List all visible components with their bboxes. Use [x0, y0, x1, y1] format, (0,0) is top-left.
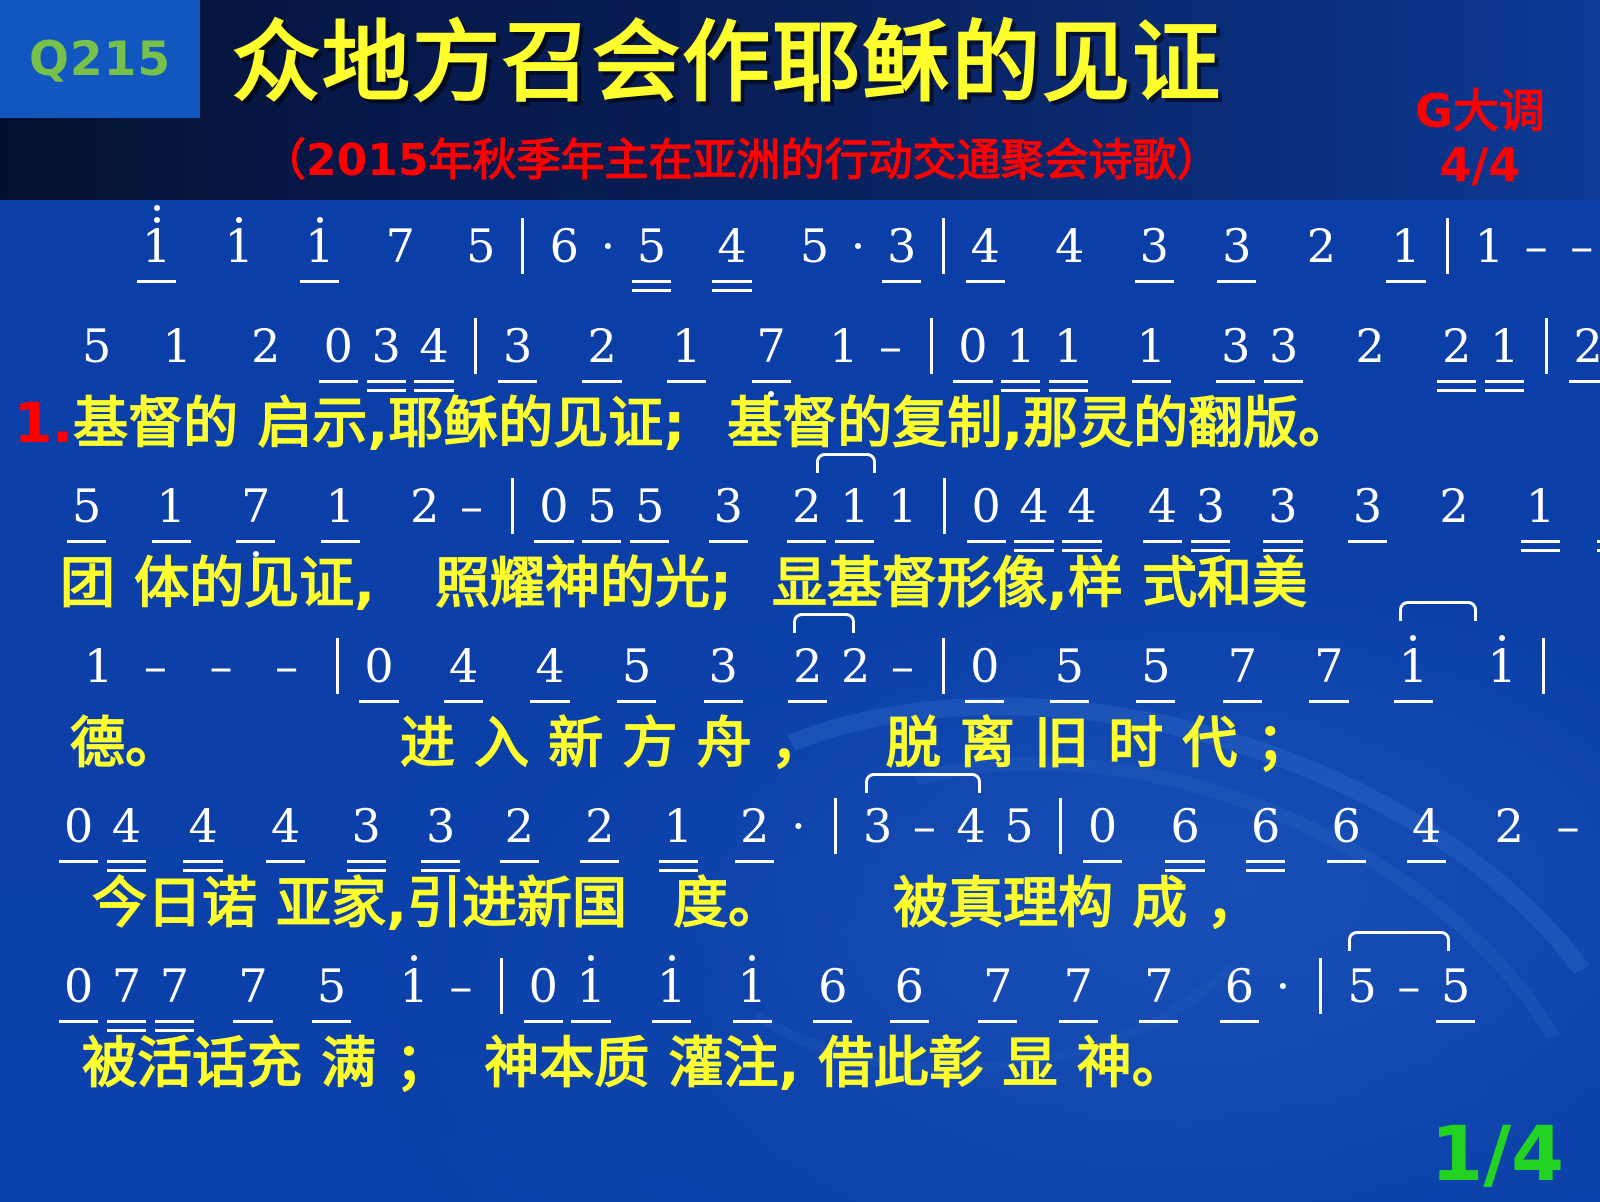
note: 4 [1146, 479, 1179, 533]
song-code-badge: Q215 [0, 0, 200, 118]
duration-dash: – [1521, 219, 1552, 273]
barline [834, 798, 837, 854]
note: 4 [954, 799, 987, 853]
note: 1 [662, 799, 695, 853]
note: 4 [1410, 799, 1443, 853]
key-signature-label: G大调 [1370, 86, 1590, 136]
note: 1 [1004, 319, 1037, 373]
note: 2 [1572, 319, 1600, 373]
note-rest: 0 [62, 959, 95, 1013]
note: 3 [861, 799, 894, 853]
note: 7 [1062, 959, 1095, 1013]
note: 1 [838, 479, 871, 533]
note: 7 [158, 959, 191, 1013]
barline [930, 318, 933, 374]
duration-dot: · [596, 219, 621, 273]
tie-slur [1399, 601, 1477, 621]
note-rest: 0 [362, 639, 395, 693]
staff-line-2: 5 1 2 0 3 4 3 2 1 7 1 – 0 1 1 1 3 3 2 2 … [80, 318, 1600, 396]
note: 5 [1346, 959, 1379, 1013]
lyric-text: 今日诺 亚家,引进新国 [92, 871, 627, 935]
note: 7 [981, 959, 1014, 1013]
note: 1 [1524, 479, 1557, 533]
duration-dash: – [1540, 799, 1595, 853]
lyric-text: 被真理构 成 ， [893, 871, 1261, 935]
duration-dash: – [130, 639, 181, 693]
barline [942, 218, 945, 274]
duration-dash: – [261, 639, 312, 693]
lyric-text: 团 体的见证, [60, 551, 375, 615]
note: 1 [161, 319, 194, 373]
note: 2 [1437, 479, 1470, 533]
tie-slur [793, 613, 855, 633]
note: 1 [1389, 219, 1422, 273]
note: 3 [1220, 219, 1253, 273]
note: 5 [798, 219, 831, 273]
note: 6 [893, 959, 926, 1013]
barline [942, 638, 945, 694]
note: 3 [350, 799, 383, 853]
note: 4 [447, 639, 480, 693]
barline [500, 958, 503, 1014]
note: 3 [370, 319, 403, 373]
staff-line-3: 5 1 7 1 2 – 0 5 5 3 2 1 1 0 4 4 4 3 3 3 [70, 478, 1600, 556]
note: 4 [269, 799, 302, 853]
barline [1319, 958, 1322, 1014]
note: 5 [620, 639, 653, 693]
note: 5 [633, 479, 666, 533]
note: 1 [670, 319, 703, 373]
note: 4 [969, 219, 1002, 273]
note: 1 [574, 959, 607, 1013]
verse-number: 1. [14, 391, 73, 455]
duration-dash: – [196, 639, 247, 693]
note: 5 [635, 219, 668, 273]
note: 1 [1397, 639, 1430, 693]
page-title: 众地方召会作耶稣的见证 [232, 14, 1222, 112]
song-code-label: Q215 [29, 32, 171, 87]
note: 2 [503, 799, 536, 853]
note: 1 [1485, 639, 1518, 693]
note: 5 [1002, 799, 1035, 853]
note: 2 [249, 319, 282, 373]
note: 3 [885, 219, 918, 273]
note: 6 [548, 219, 581, 273]
duration-dash: – [1393, 959, 1424, 1013]
staff-line-4: 1 – – – 0 4 4 5 3 2 2 – 0 5 5 7 7 1 [82, 638, 1554, 716]
barline [1545, 318, 1548, 374]
duration-dot: · [786, 799, 811, 853]
note-rest: 0 [537, 479, 570, 533]
note: 1 [1473, 219, 1506, 273]
note-rest: 0 [527, 959, 560, 1013]
note: 7 [110, 959, 143, 1013]
note-rest: 0 [970, 479, 1003, 533]
note: 6 [1249, 799, 1282, 853]
staff-line-6: 0 7 7 7 5 1 – 0 1 1 1 6 6 7 7 7 6 · 5 – [62, 958, 1472, 1036]
note: 1 [655, 959, 688, 1013]
note: 5 [80, 319, 113, 373]
lyric-line-5: 被活话充 满 ；神本质 灌注, 借此彰 显 神。 [82, 1033, 1187, 1093]
barline [521, 218, 524, 274]
note: 2 [790, 479, 823, 533]
note: 5 [1139, 639, 1172, 693]
note: 3 [712, 479, 745, 533]
note: 6 [1168, 799, 1201, 853]
note: 6 [1223, 959, 1256, 1013]
note-rest: 0 [322, 319, 355, 373]
note: 2 [583, 799, 616, 853]
barline [1542, 638, 1545, 694]
tie-slur [865, 773, 981, 793]
barline [511, 478, 514, 534]
time-signature-label: 4/4 [1370, 140, 1590, 190]
note: 3 [1267, 319, 1300, 373]
note: 4 [186, 799, 219, 853]
note: 7 [1226, 639, 1259, 693]
staff-line-1: 1 1 1 7 5 6 · 5 4 5 · 3 4 4 3 3 2 1 1 – … [140, 218, 1600, 296]
duration-dash: – [445, 959, 476, 1013]
note: 7 [1142, 959, 1175, 1013]
note: 5 [315, 959, 348, 1013]
note: 1 [155, 479, 188, 533]
note: 2 [738, 799, 771, 853]
lyric-text: 德。 [70, 711, 180, 775]
note: 5 [585, 479, 618, 533]
note: 2 [1493, 799, 1526, 853]
note: 6 [1330, 799, 1363, 853]
lyric-text: 显基督形像,样 式和美 [772, 551, 1307, 615]
duration-dot: · [1271, 959, 1296, 1013]
note: 2 [408, 479, 441, 533]
lyric-text: 基督的 启示,耶稣的见证; [73, 391, 685, 455]
barline [474, 318, 477, 374]
lyric-line-4: 今日诺 亚家,引进新国度。被真理构 成 ， [92, 873, 1261, 933]
tie-slur [1348, 931, 1450, 951]
staff-line-5: 0 4 4 4 3 3 2 2 1 2 · 3 – 4 5 0 6 6 6 [62, 798, 1600, 876]
barline [1059, 798, 1062, 854]
note: 7 [236, 959, 269, 1013]
lyric-text: 脱 离 旧 时 代 ； [886, 711, 1312, 775]
note: 7 [755, 319, 788, 373]
note: 3 [1138, 219, 1171, 273]
note: 7 [239, 479, 272, 533]
note: 2 [1440, 319, 1473, 373]
note: 3 [424, 799, 457, 853]
page-subtitle: （2015年秋季年主在亚洲的行动交通聚会诗歌） [262, 136, 1220, 186]
note-rest: 0 [968, 639, 1001, 693]
lyric-text: 被活话充 满 ； [82, 1031, 450, 1095]
note: 2 [791, 639, 824, 693]
note: 1 [827, 319, 860, 373]
lyric-line-2: 团 体的见证,照耀神的光;显基督形像,样 式和美 [60, 553, 1307, 613]
note: 4 [1017, 479, 1050, 533]
note: 3 [1194, 479, 1227, 533]
barline [1446, 218, 1449, 274]
note: 1 [736, 959, 769, 1013]
page-number: 1/4 [1430, 1114, 1564, 1194]
note: 4 [533, 639, 566, 693]
note-rest: 0 [62, 799, 95, 853]
note: 1 [1488, 319, 1521, 373]
lyric-text: 进 入 新 方 舟 ， [400, 711, 826, 775]
lyric-text: 基督的复制,那灵的翻版。 [727, 391, 1353, 455]
note: 1 [140, 219, 173, 273]
slide-canvas: Q215 众地方召会作耶稣的见证 （2015年秋季年主在亚洲的行动交通聚会诗歌）… [0, 0, 1600, 1202]
lyric-line-1: 1.基督的 启示,耶稣的见证;基督的复制,那灵的翻版。 [14, 393, 1353, 453]
note: 5 [1439, 959, 1472, 1013]
note: 6 [816, 959, 849, 1013]
note: 4 [110, 799, 143, 853]
note: 3 [1351, 479, 1384, 533]
note: 5 [1053, 639, 1086, 693]
note: 3 [501, 319, 534, 373]
lyric-text: 神本质 灌注, 借此彰 显 神。 [484, 1031, 1187, 1095]
note: 1 [303, 219, 336, 273]
note: 1 [324, 479, 357, 533]
note: 4 [417, 319, 450, 373]
note: 4 [1065, 479, 1098, 533]
note: 1 [1052, 319, 1085, 373]
note: 1 [886, 479, 919, 533]
note: 5 [464, 219, 497, 273]
note: 2 [1354, 319, 1387, 373]
note: 7 [1312, 639, 1345, 693]
note-rest: 0 [956, 319, 989, 373]
barline [943, 478, 946, 534]
barline [336, 638, 339, 694]
note: 4 [715, 219, 748, 273]
duration-dot: · [846, 219, 871, 273]
note: 3 [707, 639, 740, 693]
note: 3 [1266, 479, 1299, 533]
duration-dash: – [456, 479, 487, 533]
note: 1 [397, 959, 430, 1013]
note-rest: 0 [1086, 799, 1119, 853]
lyric-text: 照耀神的光; [435, 551, 732, 615]
note: 4 [1053, 219, 1086, 273]
note: 1 [1135, 319, 1168, 373]
duration-dash: – [887, 639, 918, 693]
note: 2 [585, 319, 618, 373]
duration-dash: – [875, 319, 906, 373]
note: 7 [384, 219, 417, 273]
note: 2 [839, 639, 872, 693]
duration-dash: – [909, 799, 940, 853]
note: 1 [223, 219, 256, 273]
lyric-text: 度。 [673, 871, 783, 935]
tie-slur [816, 453, 876, 473]
slide-header: Q215 众地方召会作耶稣的见证 （2015年秋季年主在亚洲的行动交通聚会诗歌）… [0, 0, 1600, 200]
note: 1 [82, 639, 115, 693]
lyric-line-3: 德。进 入 新 方 舟 ，脱 离 旧 时 代 ； [70, 713, 1312, 773]
note: 3 [1219, 319, 1252, 373]
note: 5 [70, 479, 103, 533]
duration-dash: – [1566, 219, 1597, 273]
note: 2 [1305, 219, 1338, 273]
